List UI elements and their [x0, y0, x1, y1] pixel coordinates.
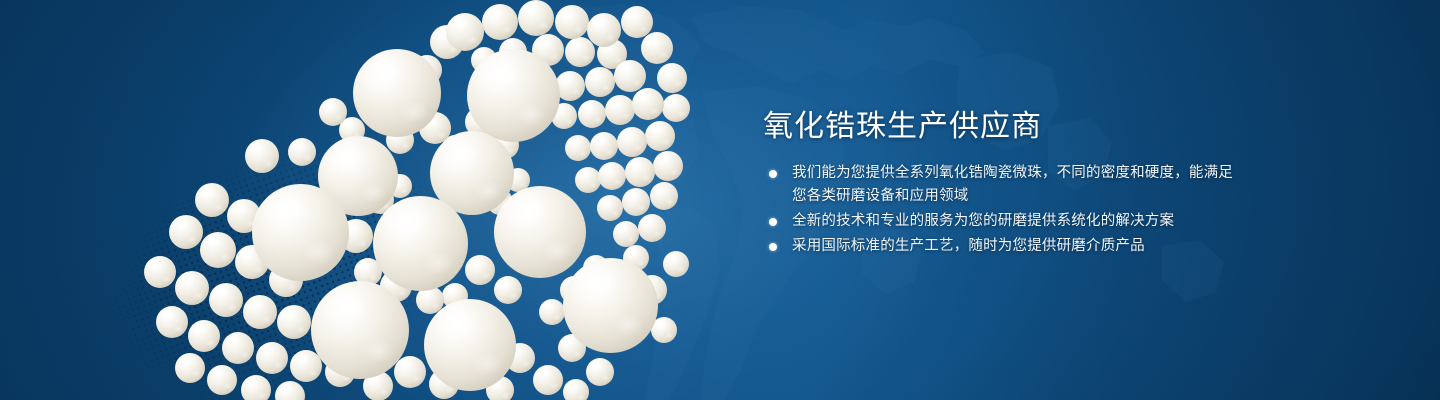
ceramic-bead — [575, 167, 601, 193]
ceramic-bead — [563, 379, 589, 400]
ceramic-bead — [614, 60, 646, 92]
ceramic-bead — [494, 276, 522, 304]
ceramic-bead — [533, 365, 563, 395]
ceramic-bead — [645, 121, 675, 151]
ceramic-bead — [617, 127, 647, 157]
ceramic-bead — [587, 13, 621, 47]
ceramic-bead — [555, 5, 589, 39]
ceramic-bead — [241, 375, 271, 400]
ceramic-bead — [288, 138, 316, 166]
ceramic-bead — [494, 186, 586, 278]
ceramic-bead — [245, 139, 279, 173]
ceramic-bead — [663, 251, 689, 277]
bullet-dot-icon — [769, 218, 777, 226]
ceramic-bead — [353, 49, 441, 137]
ceramic-bead — [613, 221, 639, 247]
ceramic-bead — [555, 71, 585, 101]
ceramic-bead — [373, 196, 468, 291]
ceramic-bead — [597, 195, 623, 221]
list-item-label: 采用国际标准的生产工艺，随时为您提供研磨介质产品 — [792, 235, 1145, 258]
ceramic-bead — [243, 295, 277, 329]
ceramic-bead — [590, 132, 618, 160]
ceramic-bead — [632, 88, 664, 120]
ceramic-bead — [653, 151, 683, 181]
ceramic-bead — [465, 255, 495, 285]
ceramic-bead — [563, 258, 658, 353]
list-item-label: 我们能为您提供全系列氧化锆陶瓷微珠，不同的密度和硬度，能满足您各类研磨设备和应用… — [792, 162, 1233, 208]
ceramic-bead — [275, 381, 305, 400]
ceramic-bead — [209, 283, 243, 317]
ceramic-bead — [169, 215, 203, 249]
page-title: 氧化锆珠生产供应商 — [763, 108, 1233, 146]
ceramic-bead — [200, 232, 236, 268]
ceramic-bead — [252, 184, 349, 281]
ceramic-bead — [638, 214, 666, 242]
ceramic-bead — [446, 13, 484, 51]
banner-copy: 氧化锆珠生产供应商 我们能为您提供全系列氧化锆陶瓷微珠，不同的密度和硬度，能满足… — [763, 108, 1233, 260]
ceramic-bead — [650, 182, 678, 210]
ceramic-bead — [424, 299, 516, 391]
ceramic-bead — [622, 188, 650, 216]
ceramic-bead — [657, 63, 687, 93]
ceramic-bead — [222, 332, 254, 364]
ceramic-bead — [156, 306, 188, 338]
ceramic-bead — [319, 98, 347, 126]
list-item: 采用国际标准的生产工艺，随时为您提供研磨介质产品 — [763, 235, 1233, 258]
ceramic-bead — [482, 4, 518, 40]
ceramic-bead — [175, 271, 209, 305]
bullet-dot-icon — [769, 170, 777, 178]
ceramic-bead — [641, 32, 673, 64]
list-item: 全新的技术和专业的服务为您的研磨提供系统化的解决方案 — [763, 210, 1233, 233]
ceramic-bead — [311, 281, 409, 379]
ceramic-bead — [598, 162, 626, 190]
ceramic-bead — [175, 353, 205, 383]
zirconia-bead-cluster-image — [0, 0, 760, 400]
ceramic-bead — [578, 100, 606, 128]
hero-banner: 氧化锆珠生产供应商 我们能为您提供全系列氧化锆陶瓷微珠，不同的密度和硬度，能满足… — [0, 0, 1440, 400]
ceramic-bead — [518, 0, 554, 36]
ceramic-bead — [586, 358, 614, 386]
ceramic-bead — [256, 342, 288, 374]
ceramic-bead — [188, 320, 220, 352]
ceramic-bead — [195, 183, 229, 217]
ceramic-bead — [585, 67, 615, 97]
list-item: 我们能为您提供全系列氧化锆陶瓷微珠，不同的密度和硬度，能满足您各类研磨设备和应用… — [763, 162, 1233, 208]
ceramic-bead — [207, 365, 237, 395]
ceramic-bead — [605, 95, 635, 125]
ceramic-bead — [144, 256, 176, 288]
bullet-dot-icon — [769, 243, 777, 251]
ceramic-bead — [565, 135, 591, 161]
ceramic-bead — [394, 356, 426, 388]
ceramic-bead — [539, 299, 565, 325]
ceramic-bead — [467, 49, 560, 142]
list-item-label: 全新的技术和专业的服务为您的研磨提供系统化的解决方案 — [792, 210, 1174, 233]
ceramic-bead — [662, 94, 690, 122]
ceramic-bead — [277, 305, 311, 339]
ceramic-bead — [625, 157, 655, 187]
